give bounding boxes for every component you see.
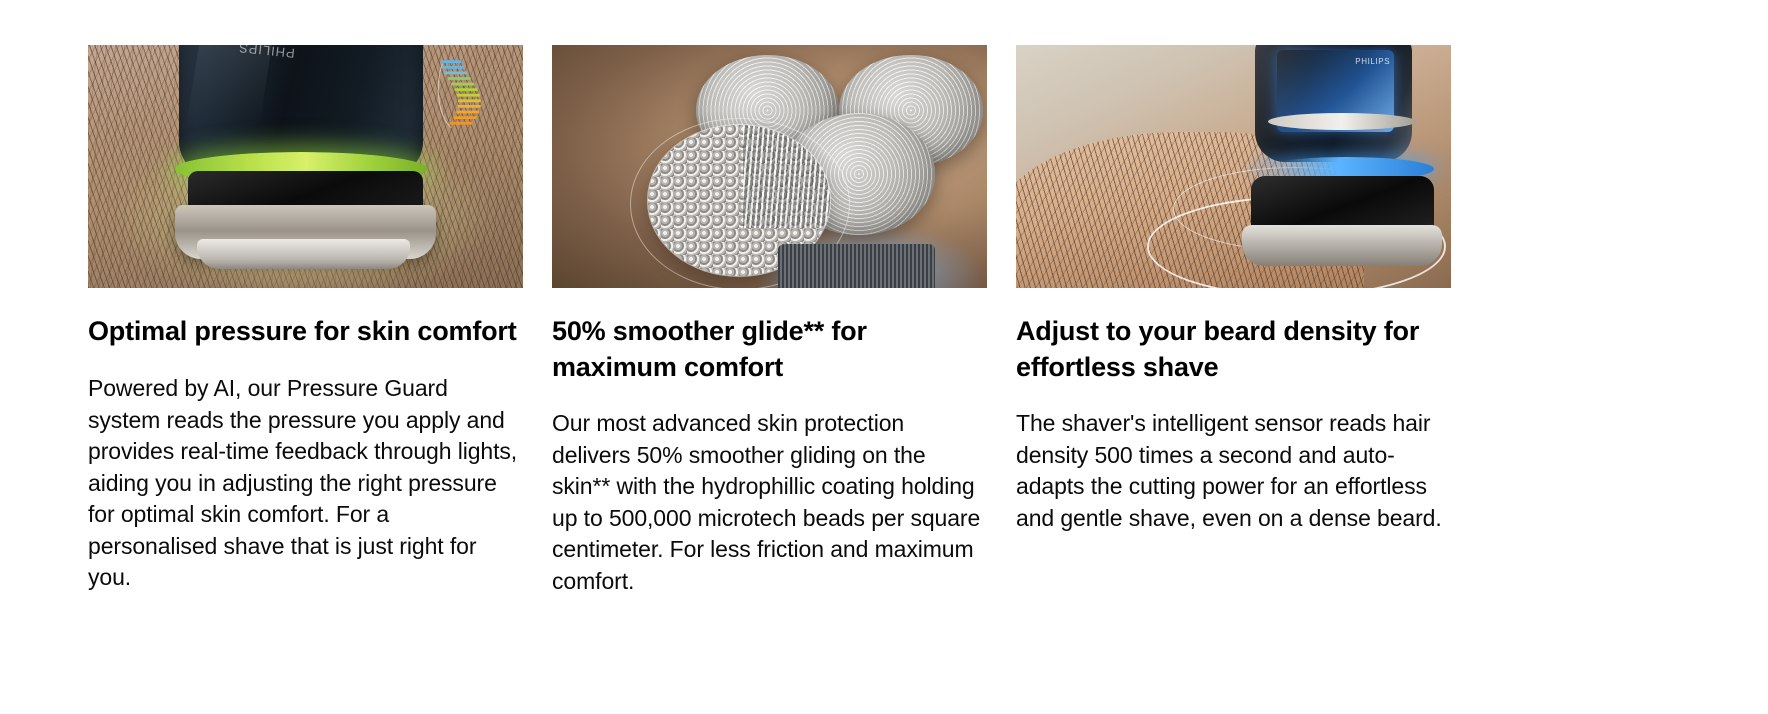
philips-brand-text: PHILIPS bbox=[1355, 57, 1390, 66]
shaver-head-plate bbox=[1242, 225, 1442, 266]
card-body-text: Powered by AI, our Pressure Guard system… bbox=[88, 373, 523, 594]
feature-card-2: 50% smoother glide** for maximum comfort… bbox=[552, 45, 987, 597]
philips-brand-text: PHILIPS bbox=[237, 45, 295, 61]
feature-section-page: PHILIPS bbox=[0, 0, 1768, 714]
card-title: Optimal pressure for skin comfort bbox=[88, 313, 523, 349]
card-title: Adjust to your beard density for effortl… bbox=[1016, 313, 1451, 385]
card-title: 50% smoother glide** for maximum comfort bbox=[552, 313, 987, 385]
shaver-grip bbox=[778, 244, 935, 288]
feature-card-3: PHILIPS Adjust to your beard density for… bbox=[1016, 45, 1451, 597]
pressure-guard-shaver-on-skin-image: PHILIPS bbox=[88, 45, 523, 288]
chrome-collar bbox=[1268, 113, 1416, 130]
shaver-head-plate-lower bbox=[197, 239, 410, 268]
bead-wave-edge bbox=[743, 125, 831, 227]
card-body-text: Our most advanced skin protection delive… bbox=[552, 408, 987, 597]
pressure-indicator-arc-icon bbox=[419, 55, 515, 167]
shaver-heads-microbeads-image bbox=[552, 45, 987, 288]
beard-density-sensor-shaver-image: PHILIPS bbox=[1016, 45, 1451, 288]
card-body-text: The shaver's intelligent sensor reads ha… bbox=[1016, 408, 1451, 534]
feature-card-1: PHILIPS bbox=[88, 45, 523, 597]
feature-grid: PHILIPS bbox=[88, 45, 1451, 597]
